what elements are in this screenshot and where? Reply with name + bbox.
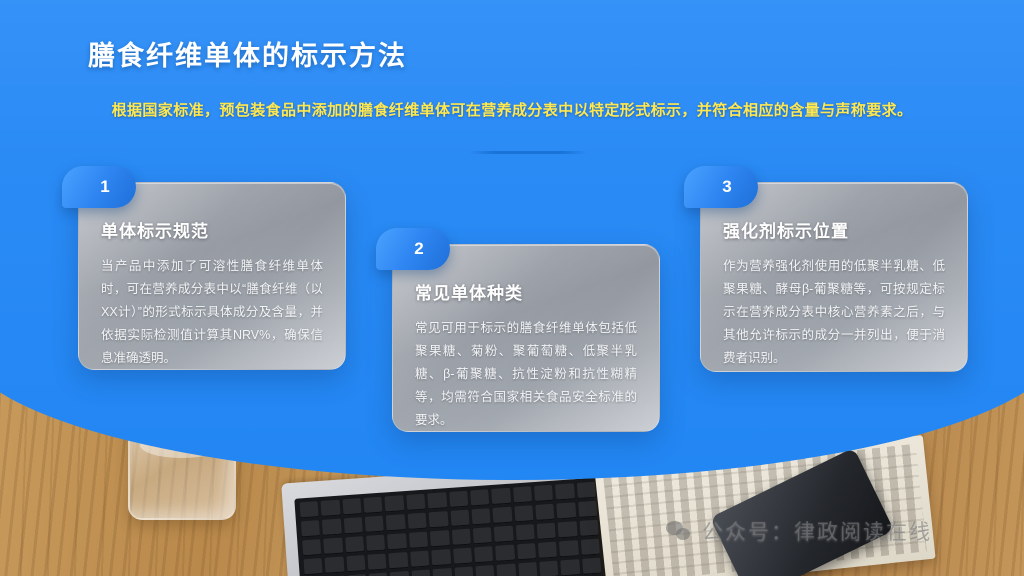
card-2-body: 常见可用于标示的膳食纤维单体包括低聚果糖、菊粉、聚葡萄糖、低聚半乳糖、β-葡聚糖…	[415, 317, 637, 432]
page-subtitle: 根据国家标准，预包装食品中添加的膳食纤维单体可在营养成分表中以特定形式标示，并符…	[0, 99, 1024, 120]
card-2-title: 常见单体种类	[415, 279, 637, 304]
card-3-title: 强化剂标示位置	[723, 217, 945, 242]
info-card-2[interactable]: 常见单体种类 常见可用于标示的膳食纤维单体包括低聚果糖、菊粉、聚葡萄糖、低聚半乳…	[392, 244, 660, 432]
card-2-number-badge: 2	[376, 228, 450, 270]
info-card-3[interactable]: 强化剂标示位置 作为营养强化剂使用的低聚半乳糖、低聚果糖、酵母β-葡聚糖等，可按…	[700, 182, 968, 372]
laptop-keyboard-photo	[294, 477, 606, 576]
header-divider	[468, 151, 588, 154]
card-3-body: 作为营养强化剂使用的低聚半乳糖、低聚果糖、酵母β-葡聚糖等，可按规定标示在营养成…	[723, 255, 945, 370]
card-1-number-badge: 1	[62, 166, 136, 208]
card-3-number-badge: 3	[684, 166, 758, 208]
page-title: 膳食纤维单体的标示方法	[88, 34, 407, 73]
card-1-body: 当产品中添加了可溶性膳食纤维单体时，可在营养成分表中以“膳食纤维（以XX计）”的…	[101, 255, 323, 370]
card-1-title: 单体标示规范	[101, 217, 323, 242]
info-card-1[interactable]: 单体标示规范 当产品中添加了可溶性膳食纤维单体时，可在营养成分表中以“膳食纤维（…	[78, 182, 346, 370]
